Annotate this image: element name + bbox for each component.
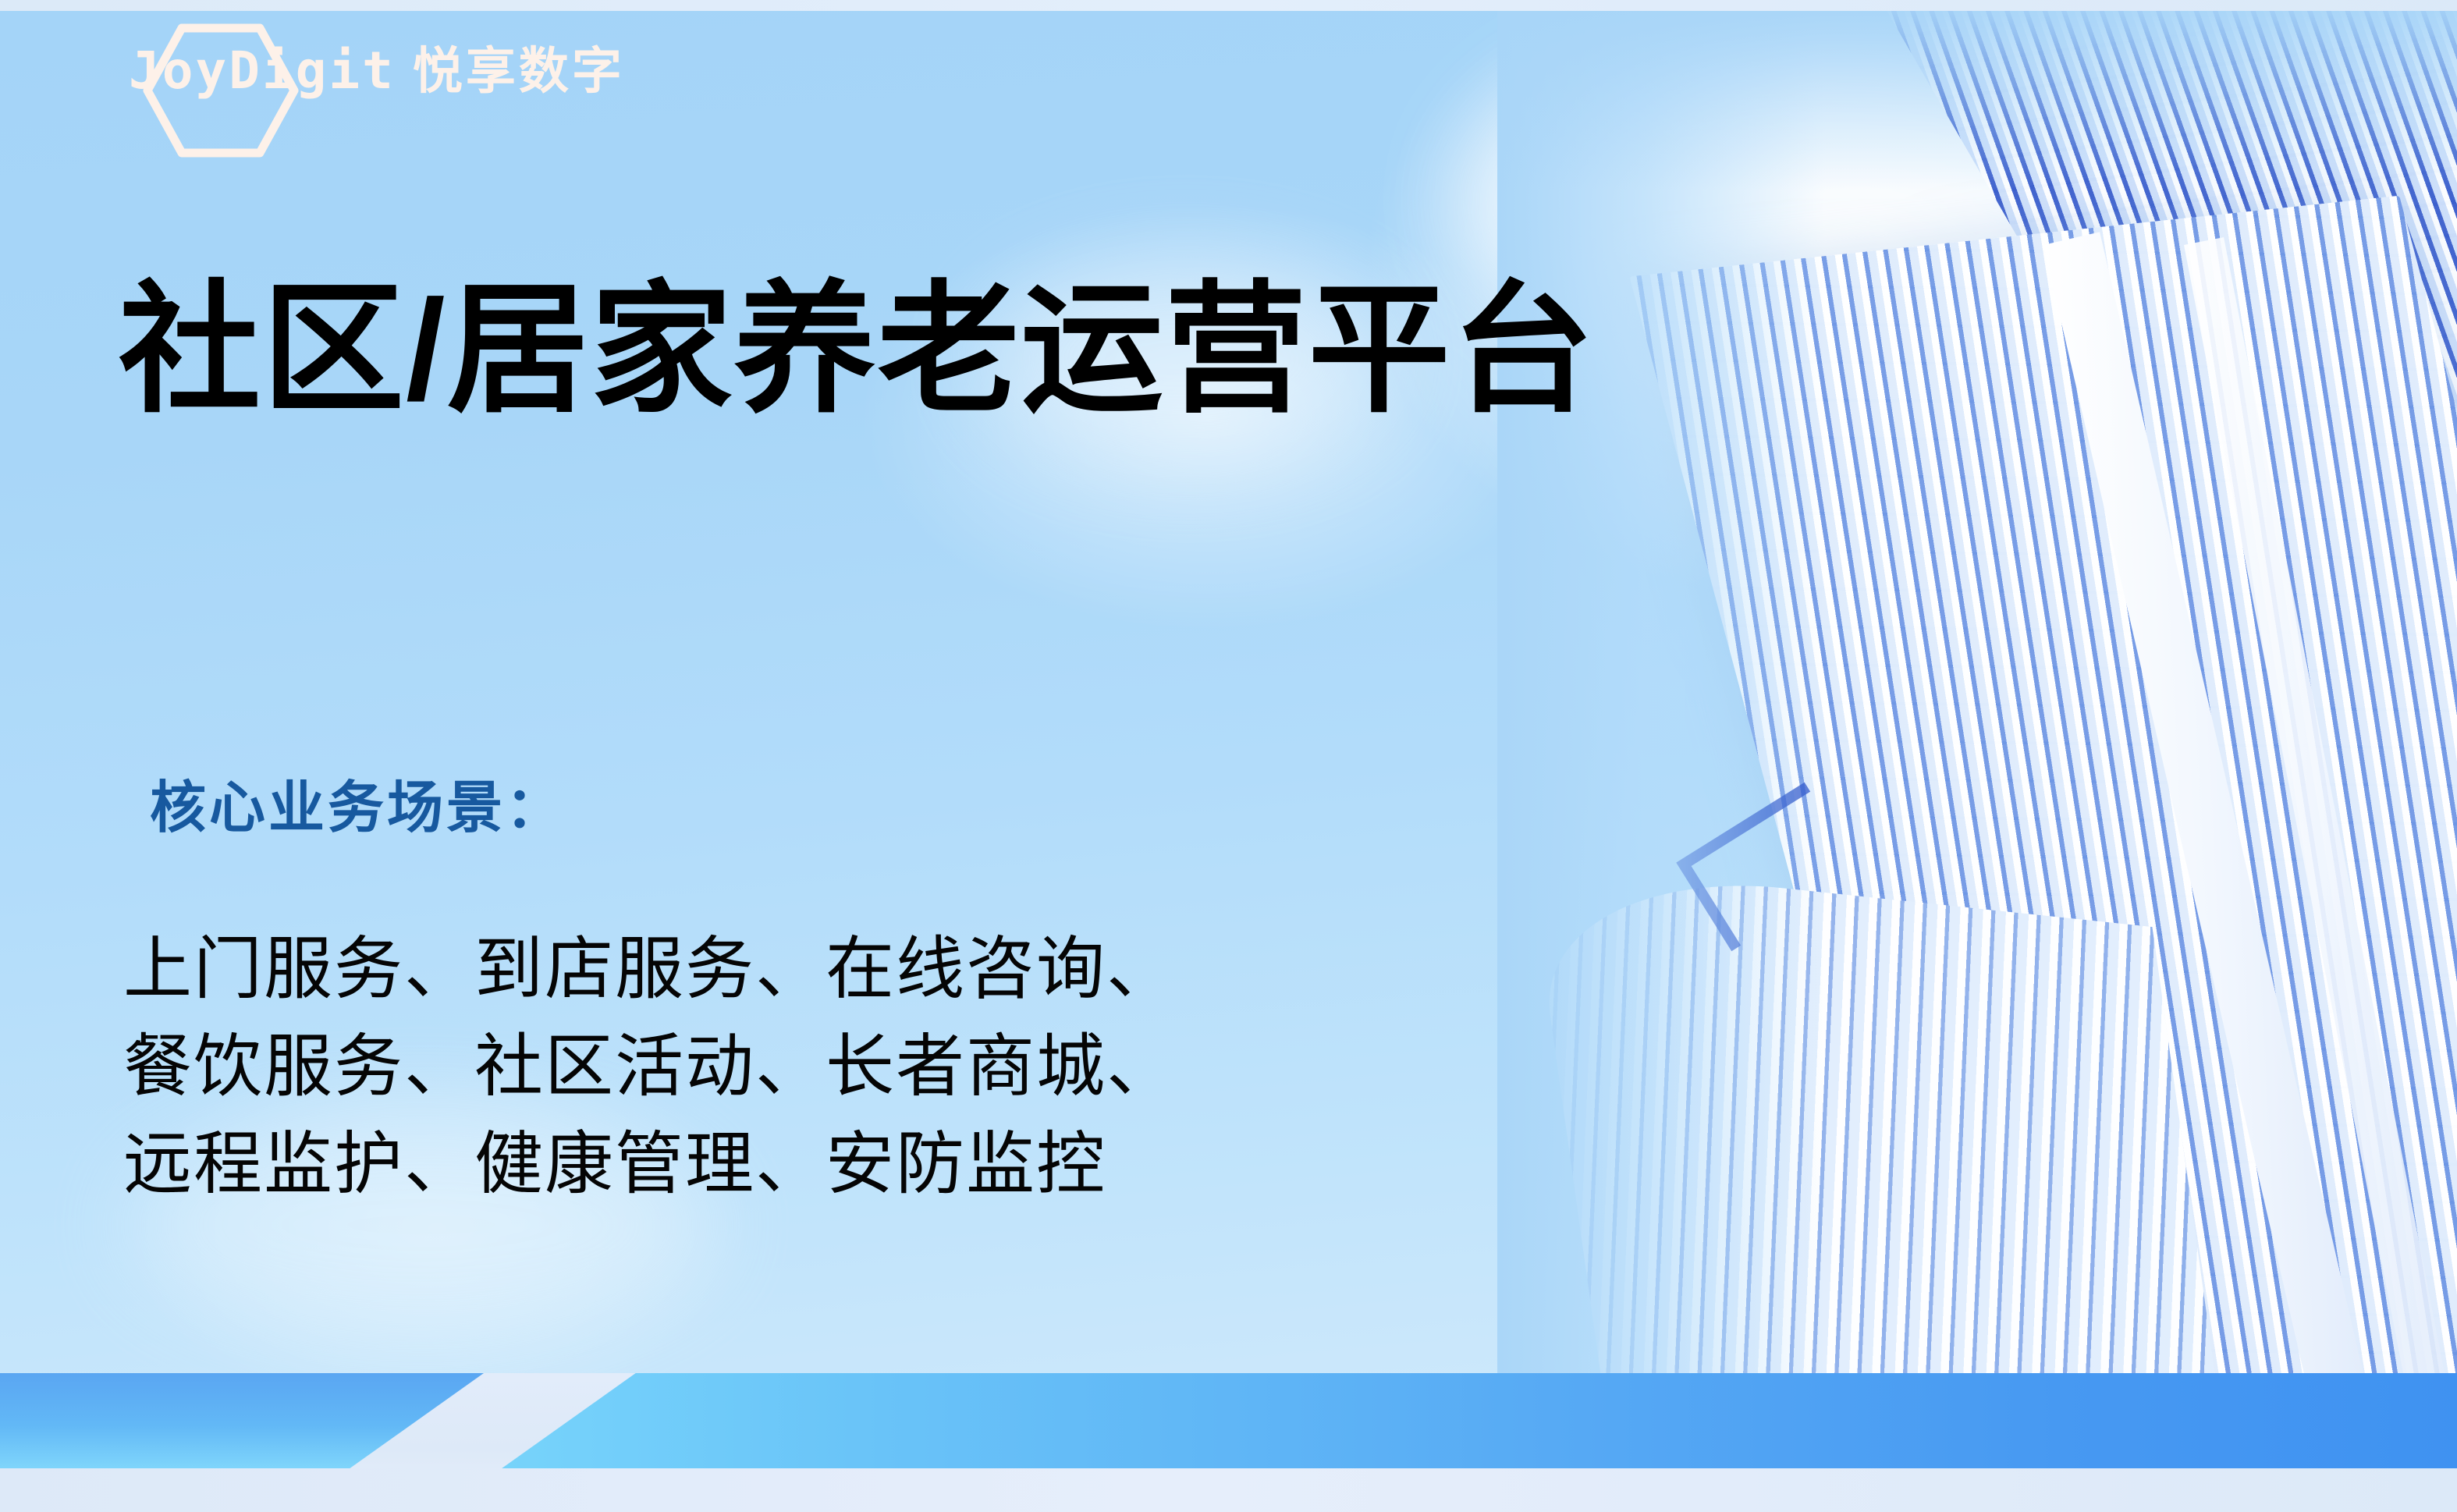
section-label: 核心业务场景：	[150, 780, 565, 836]
brand-logo-en: JoyDigit	[129, 45, 396, 97]
brand-logo[interactable]: JoyDigit 悦享数字	[129, 28, 625, 114]
page-title: 社区/居家养老运营平台	[119, 275, 1596, 425]
tower-base	[1529, 861, 2235, 1373]
scenario-line: 远程监护、健康管理、安防监控	[123, 1116, 1177, 1213]
brand-logo-cn: 悦享数字	[413, 46, 625, 96]
banner-shape-right	[437, 1373, 2457, 1468]
scenario-list: 上门服务、到店服务、在线咨询、 餐饮服务、社区活动、长者商城、 远程监护、健康管…	[123, 921, 1177, 1213]
top-edge-strip	[0, 0, 2457, 11]
scenario-line: 上门服务、到店服务、在线咨询、	[123, 921, 1177, 1018]
banner-shape-left	[0, 1373, 484, 1468]
slide-canvas: JoyDigit 悦享数字 社区/居家养老运营平台 核心业务场景： 上门服务、到…	[0, 0, 2457, 1512]
banner-bottom-strip	[0, 1468, 2457, 1512]
skyscraper-photo	[1497, 11, 2457, 1373]
scenario-line: 餐饮服务、社区活动、长者商城、	[123, 1018, 1177, 1116]
bottom-banner	[0, 1373, 2457, 1512]
